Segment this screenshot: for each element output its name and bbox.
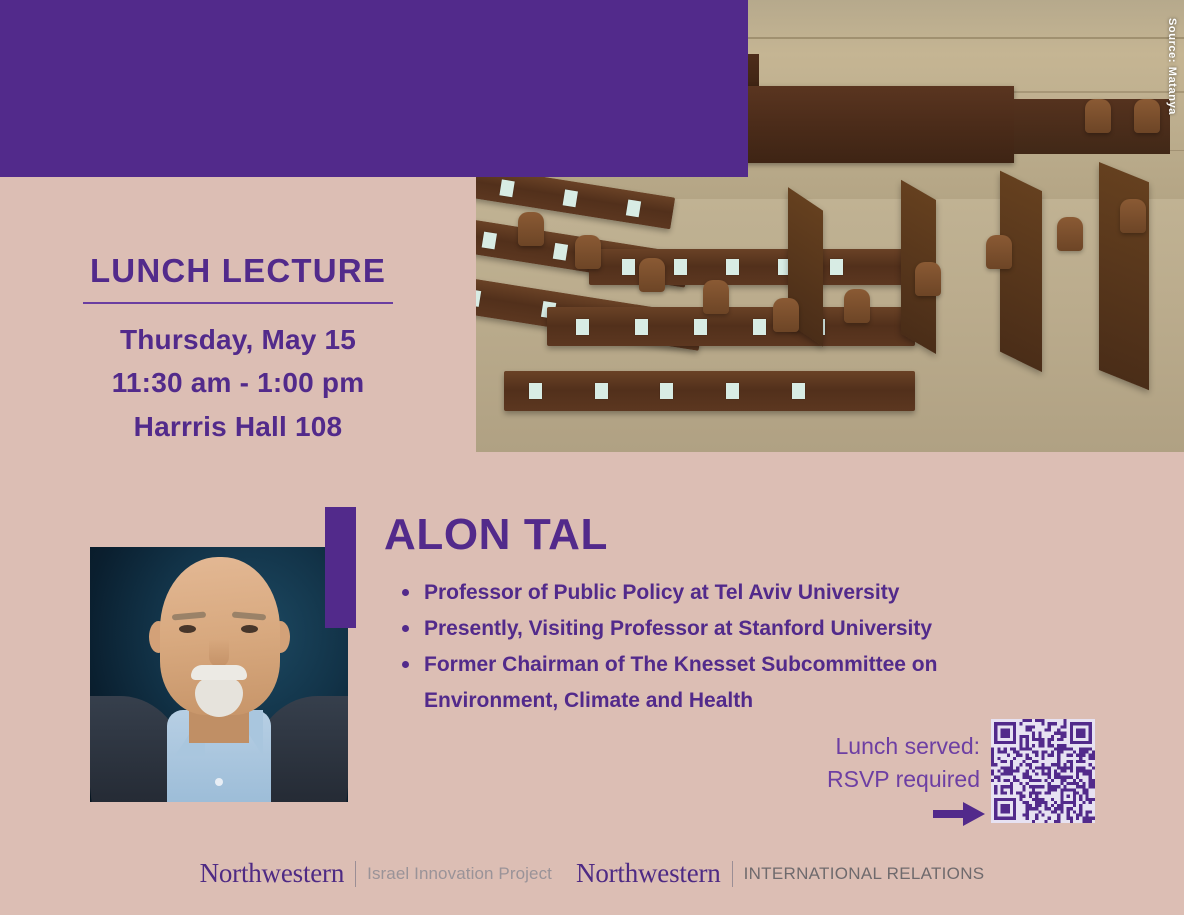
list-item: Presently, Visiting Professor at Stanfor… (396, 611, 1036, 647)
photo-credit: Source: Matanya (1166, 18, 1178, 115)
qr-code-icon[interactable] (991, 719, 1095, 823)
rsvp-note: Lunch served: RSVP required (780, 730, 980, 795)
logo-divider (732, 861, 733, 887)
bench-row (1099, 162, 1149, 390)
bench-row (1000, 170, 1042, 372)
event-poster: Source: Matanya A Sustainable Path Forwa… (0, 0, 1184, 915)
nose (209, 639, 229, 667)
event-details: LUNCH LECTURE Thursday, May 15 11:30 am … (0, 252, 476, 448)
eye-left (179, 625, 196, 633)
eye-right (241, 625, 258, 633)
logo-unit-name: INTERNATIONAL RELATIONS (744, 864, 985, 884)
event-time: 11:30 am - 1:00 pm (0, 361, 476, 404)
logo-israel-innovation-project: Northwestern Israel Innovation Project (200, 858, 552, 889)
rsvp-line-2: RSVP required (780, 763, 980, 796)
chamber-chair (773, 298, 799, 332)
chamber-chair (518, 212, 544, 246)
speaker-accent-bar (325, 507, 356, 628)
bench-row (504, 371, 915, 412)
mustache (191, 665, 247, 680)
speaker-name: ALON TAL (384, 510, 608, 560)
chamber-chair (986, 235, 1012, 269)
list-item: Professor of Public Policy at Tel Aviv U… (396, 575, 1036, 611)
logo-unit-name: Israel Innovation Project (367, 864, 552, 884)
chamber-chair (639, 258, 665, 292)
chamber-chair (1085, 99, 1111, 133)
arrow-right-icon (933, 800, 985, 828)
speaker-credentials: Professor of Public Policy at Tel Aviv U… (396, 575, 1036, 719)
chamber-chair (703, 280, 729, 314)
logo-divider (355, 861, 356, 887)
event-kicker: LUNCH LECTURE (0, 252, 476, 290)
list-item: Former Chairman of The Knesset Subcommit… (396, 647, 1036, 719)
northwestern-wordmark: Northwestern (200, 858, 345, 889)
rsvp-line-1: Lunch served: (780, 730, 980, 763)
event-date: Thursday, May 15 (0, 318, 476, 361)
header-band (0, 0, 748, 177)
logo-international-relations: Northwestern INTERNATIONAL RELATIONS (576, 858, 984, 889)
footer-logos: Northwestern Israel Innovation Project N… (0, 858, 1184, 889)
chamber-chair (844, 289, 870, 323)
speaker-portrait (90, 547, 348, 802)
divider (83, 302, 393, 304)
northwestern-wordmark: Northwestern (576, 858, 721, 889)
event-location: Harrris Hall 108 (0, 405, 476, 448)
chamber-chair (1120, 199, 1146, 233)
shirt-button (215, 778, 223, 786)
chamber-chair (1057, 217, 1083, 251)
chamber-chair (575, 235, 601, 269)
chamber-chair (1134, 99, 1160, 133)
chamber-chair (915, 262, 941, 296)
